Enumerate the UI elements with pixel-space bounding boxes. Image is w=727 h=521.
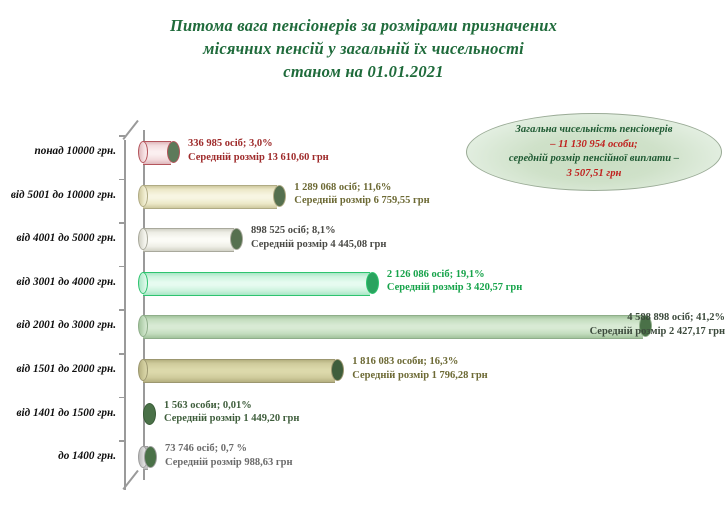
bar-cap-right: [143, 403, 156, 425]
category-label-2: від 5001 до 10000 грн.: [0, 189, 116, 201]
y-axis-line: [124, 140, 126, 490]
bar-body: [143, 359, 335, 383]
bar-5: [143, 315, 652, 337]
value-label-average: Середній розмір 3 420,57 грн: [387, 281, 522, 295]
value-label-count: 4 588 898 осіб; 41,2%: [590, 311, 725, 325]
bar-6: [143, 359, 344, 381]
bar-body: [143, 272, 370, 296]
bar-body: [143, 315, 643, 339]
y-axis-tick: [119, 440, 125, 442]
category-label-8: до 1400 грн.: [0, 450, 116, 462]
bar-cap-right: [167, 141, 180, 163]
value-label-6: 1 816 083 особи; 16,3%Середній розмір 1 …: [352, 355, 487, 382]
value-label-count: 898 525 осіб; 8,1%: [251, 224, 386, 238]
value-label-count: 336 985 осіб; 3,0%: [188, 137, 329, 151]
pension-distribution-chart: Питома вага пенсіонерів за розмірами при…: [0, 0, 727, 521]
bar-cap-left: [138, 141, 148, 163]
value-label-average: Середній розмір 6 759,55 грн: [294, 194, 429, 208]
bar-cap-left: [138, 359, 148, 381]
callout-line-4: 3 507,51 грн: [509, 167, 679, 182]
summary-callout-text: Загальна чисельність пенсіонерів – 11 13…: [491, 123, 697, 181]
value-label-count: 73 746 осіб; 0,7 %: [165, 442, 293, 456]
value-label-1: 336 985 осіб; 3,0%Середній розмір 13 610…: [188, 137, 329, 164]
bar-8: [143, 446, 157, 468]
y-axis-tick: [119, 309, 125, 311]
title-line-1: Питома вага пенсіонерів за розмірами при…: [0, 14, 727, 37]
title-line-3: станом на 01.01.2021: [0, 60, 727, 83]
bar-7: [143, 403, 156, 425]
bar-cap-right: [273, 185, 286, 207]
value-label-count: 1 289 068 осіб; 11,6%: [294, 181, 429, 195]
value-label-count: 1 563 особи; 0,01%: [164, 399, 299, 413]
value-label-average: Середній розмір 988,63 грн: [165, 456, 293, 470]
callout-line-1: Загальна чисельність пенсіонерів: [509, 123, 679, 138]
y-axis-tick: [119, 222, 125, 224]
bar-cap-right: [144, 446, 157, 468]
bar-4: [143, 272, 379, 294]
value-label-count: 2 126 086 осіб; 19,1%: [387, 268, 522, 282]
bar-3: [143, 228, 243, 250]
value-label-3: 898 525 осіб; 8,1%Середній розмір 4 445,…: [251, 224, 386, 251]
plot-baseline: [143, 130, 145, 480]
summary-callout: Загальна чисельність пенсіонерів – 11 13…: [466, 113, 722, 191]
category-label-3: від 4001 до 5000 грн.: [0, 232, 116, 244]
bar-body: [143, 228, 234, 252]
value-label-average: Середній розмір 13 610,60 грн: [188, 151, 329, 165]
callout-line-3: середній розмір пенсійної виплати –: [509, 152, 679, 167]
y-axis-tick: [119, 135, 125, 137]
bar-cap-right: [230, 228, 243, 250]
value-label-average: Середній розмір 1 796,28 грн: [352, 369, 487, 383]
value-label-2: 1 289 068 осіб; 11,6%Середній розмір 6 7…: [294, 181, 429, 208]
bar-cap-left: [138, 272, 148, 294]
value-label-7: 1 563 особи; 0,01%Середній розмір 1 449,…: [164, 399, 299, 426]
bar-2: [143, 185, 286, 207]
y-axis-tick: [119, 179, 125, 181]
title-line-2: місячних пенсій у загальній їх чисельнос…: [0, 37, 727, 60]
page-title: Питома вага пенсіонерів за розмірами при…: [0, 14, 727, 83]
category-label-7: від 1401 до 1500 грн.: [0, 407, 116, 419]
value-label-4: 2 126 086 осіб; 19,1%Середній розмір 3 4…: [387, 268, 522, 295]
y-axis-tick: [119, 397, 125, 399]
bar-cap-right: [366, 272, 379, 294]
bar-body: [143, 185, 277, 209]
value-label-average: Середній розмір 2 427,17 грн: [590, 325, 725, 339]
category-label-5: від 2001 до 3000 грн.: [0, 319, 116, 331]
bar-cap-left: [138, 185, 148, 207]
axis-perspective-top: [123, 120, 139, 140]
y-axis-tick: [119, 353, 125, 355]
value-label-average: Середній розмір 4 445,08 грн: [251, 238, 386, 252]
value-label-5: 4 588 898 осіб; 41,2%Середній розмір 2 4…: [590, 311, 725, 338]
value-label-count: 1 816 083 особи; 16,3%: [352, 355, 487, 369]
value-label-8: 73 746 осіб; 0,7 %Середній розмір 988,63…: [165, 442, 293, 469]
y-axis-tick: [119, 266, 125, 268]
category-label-1: понад 10000 грн.: [0, 145, 116, 157]
bar-cap-right: [331, 359, 344, 381]
value-label-average: Середній розмір 1 449,20 грн: [164, 412, 299, 426]
callout-line-2: – 11 130 954 особи;: [509, 138, 679, 153]
bar-1: [143, 141, 180, 163]
category-label-4: від 3001 до 4000 грн.: [0, 276, 116, 288]
category-label-6: від 1501 до 2000 грн.: [0, 363, 116, 375]
